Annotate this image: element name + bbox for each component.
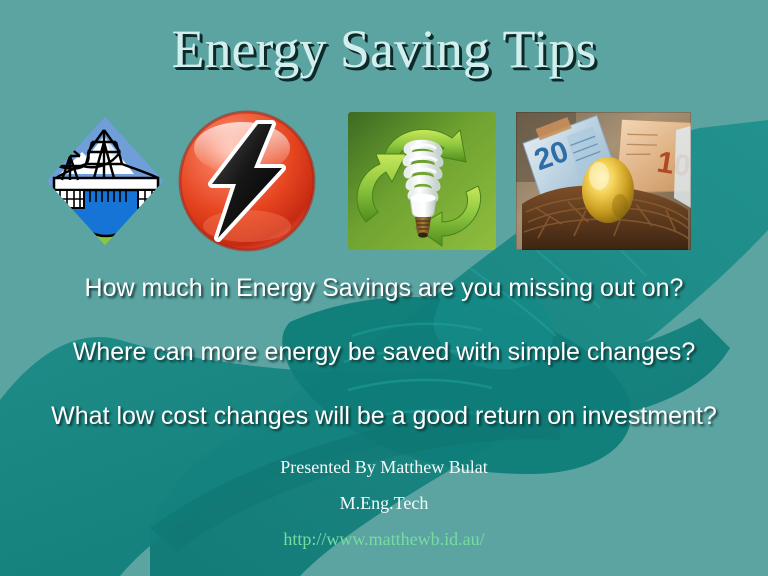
lightning-bolt-sphere-icon bbox=[166, 110, 328, 252]
presenter-name: Presented By Matthew Bulat bbox=[0, 456, 768, 478]
question-line-3: What low cost changes will be a good ret… bbox=[0, 401, 768, 431]
recycle-cfl-bulb-image bbox=[348, 112, 496, 250]
presentation-slide: Energy Saving Tips bbox=[0, 0, 768, 576]
presenter-qualification: M.Eng.Tech bbox=[0, 492, 768, 514]
question-line-2: Where can more energy be saved with simp… bbox=[0, 337, 768, 367]
page-title: Energy Saving Tips bbox=[0, 18, 768, 80]
presenter-website-link[interactable]: http://www.matthewb.id.au/ bbox=[0, 528, 768, 550]
question-line-1: How much in Energy Savings are you missi… bbox=[0, 273, 768, 303]
hydro-dam-icon bbox=[42, 112, 168, 250]
golden-egg-money-photo: 20 10 bbox=[516, 112, 691, 250]
